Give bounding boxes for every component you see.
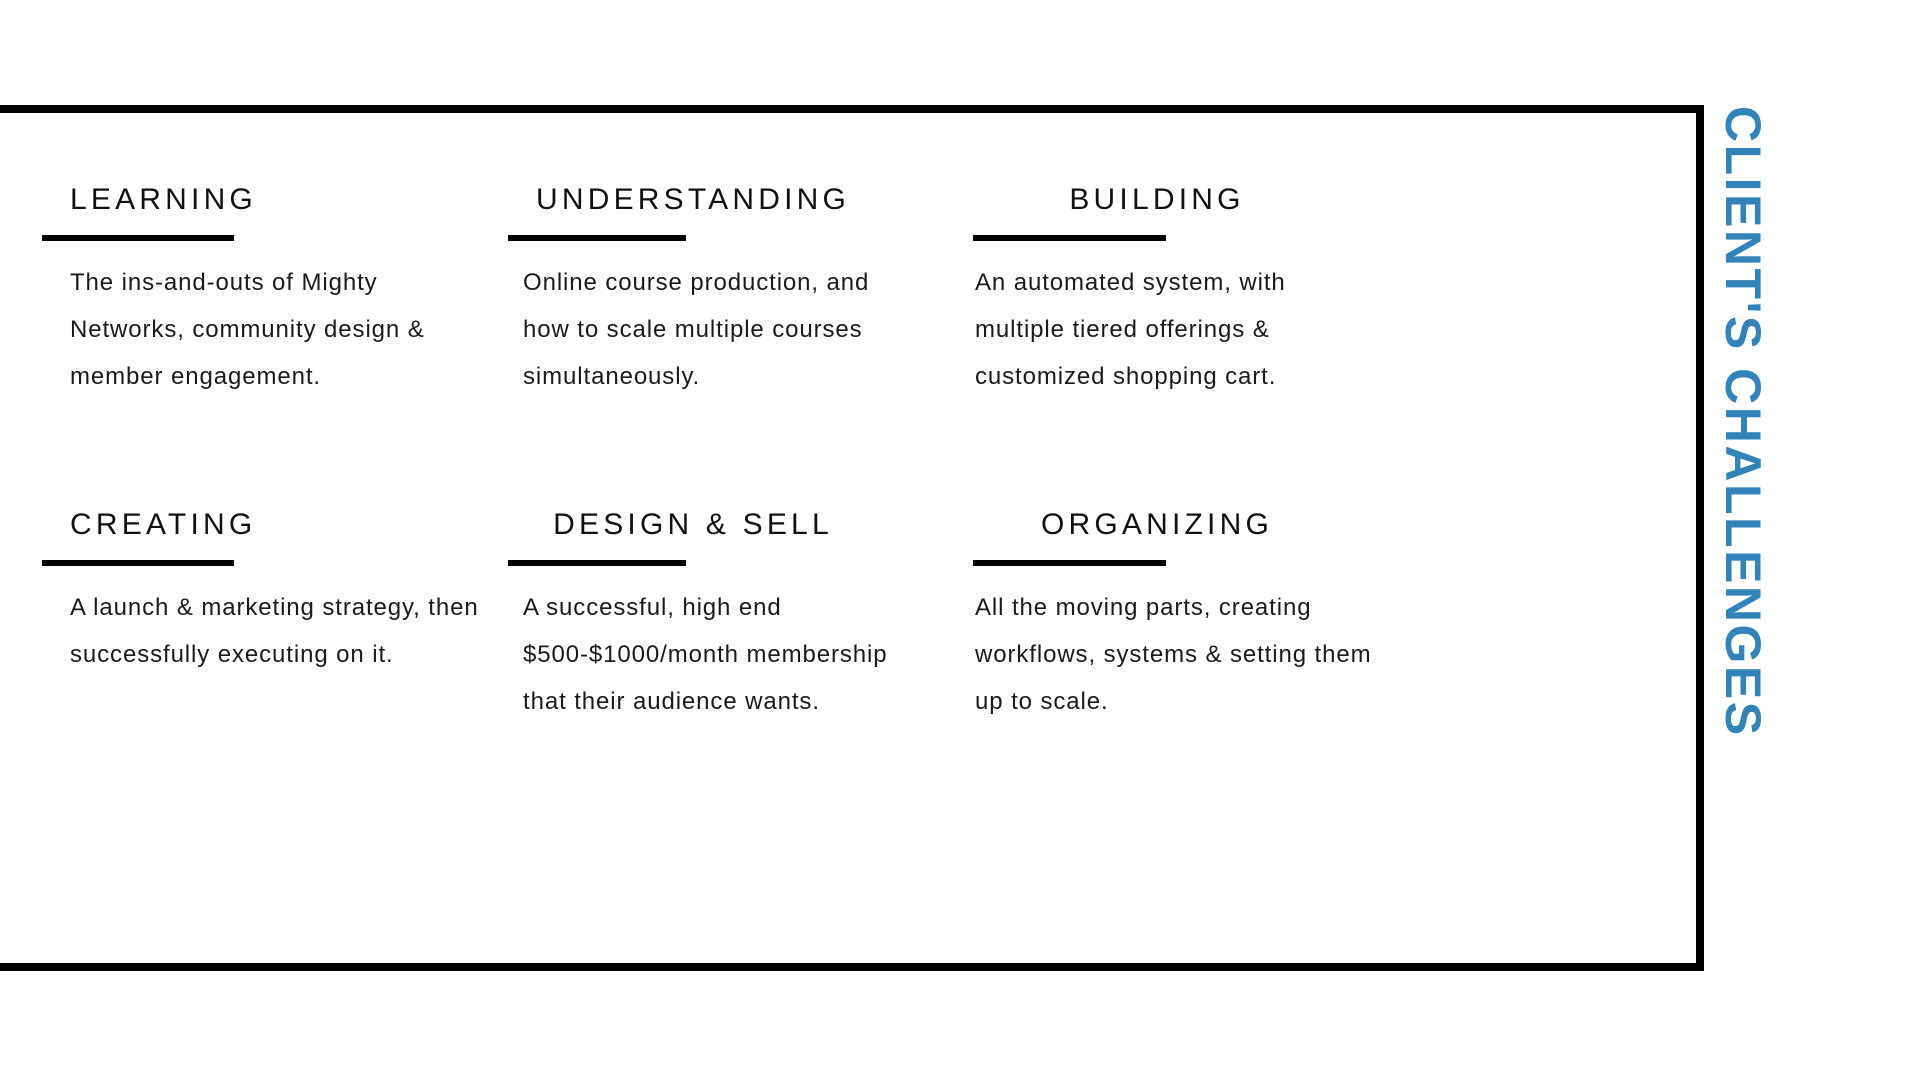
challenge-heading: DESIGN & SELL: [493, 510, 893, 540]
challenge-card-learning: LEARNING The ins-and-outs of Mighty Netw…: [42, 185, 482, 400]
heading-underline: [973, 235, 1166, 241]
challenge-heading: CREATING: [70, 510, 482, 540]
challenge-body: An automated system, with multiple tiere…: [975, 259, 1375, 400]
challenge-card-building: BUILDING An automated system, with multi…: [935, 185, 1375, 400]
side-title-label: CLIENT'S CHALLENGES: [1718, 106, 1768, 738]
heading-underline: [508, 560, 686, 566]
heading-underline: [973, 560, 1166, 566]
challenge-heading: UNDERSTANDING: [493, 185, 893, 215]
challenge-heading: ORGANIZING: [939, 510, 1375, 540]
challenge-card-creating: CREATING A launch & marketing strategy, …: [42, 510, 482, 678]
heading-underline: [42, 560, 234, 566]
heading-underline: [42, 235, 234, 241]
side-title: CLIENT'S CHALLENGES: [1700, 100, 1780, 980]
challenge-heading: LEARNING: [70, 185, 482, 215]
challenge-body: Online course production, and how to sca…: [523, 259, 893, 400]
challenge-card-understanding: UNDERSTANDING Online course production, …: [493, 185, 893, 400]
heading-underline: [508, 235, 686, 241]
challenge-card-design-and-sell: DESIGN & SELL A successful, high end $50…: [493, 510, 893, 725]
challenge-heading: BUILDING: [939, 185, 1375, 215]
challenge-body: The ins-and-outs of Mighty Networks, com…: [70, 259, 482, 400]
challenges-grid: LEARNING The ins-and-outs of Mighty Netw…: [0, 105, 1704, 971]
challenge-card-organizing: ORGANIZING All the moving parts, creatin…: [935, 510, 1375, 725]
challenge-body: A successful, high end $500-$1000/month …: [523, 584, 893, 725]
challenge-body: A launch & marketing strategy, then succ…: [70, 584, 482, 678]
challenge-body: All the moving parts, creating workflows…: [975, 584, 1375, 725]
